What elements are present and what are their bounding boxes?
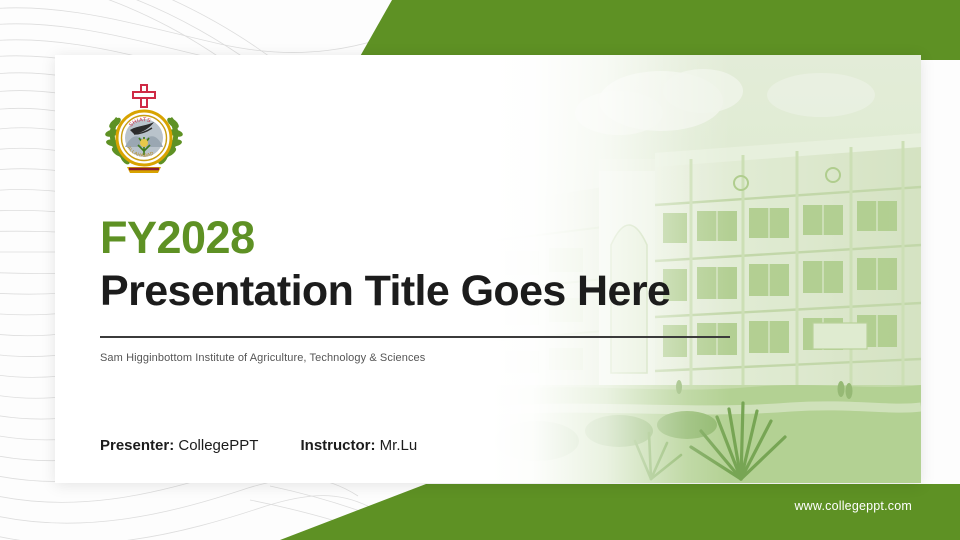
presentation-slide: www.collegeppt.com	[0, 0, 960, 540]
title-divider	[100, 336, 730, 338]
presenter-name: CollegePPT	[178, 437, 258, 454]
fiscal-year-label: FY2028	[100, 215, 730, 260]
presenter-label: Presenter:	[100, 437, 174, 454]
instructor-label: Instructor:	[301, 437, 376, 454]
page-title: Presentation Title Goes Here	[100, 268, 730, 314]
institution-name: Sam Higginbottom Institute of Agricultur…	[100, 352, 730, 364]
instructor-name: Mr.Lu	[380, 437, 418, 454]
credits-line: Presenter: CollegePPT Instructor: Mr.Lu	[100, 437, 417, 454]
website-url[interactable]: www.collegeppt.com	[794, 499, 912, 513]
title-block: FY2028 Presentation Title Goes Here Sam …	[100, 215, 730, 364]
content-card: SHIATS ALLAHABAD FY2028 Presentation Tit…	[55, 55, 921, 483]
green-top-band	[0, 0, 960, 60]
institution-crest-logo: SHIATS ALLAHABAD	[100, 83, 188, 175]
